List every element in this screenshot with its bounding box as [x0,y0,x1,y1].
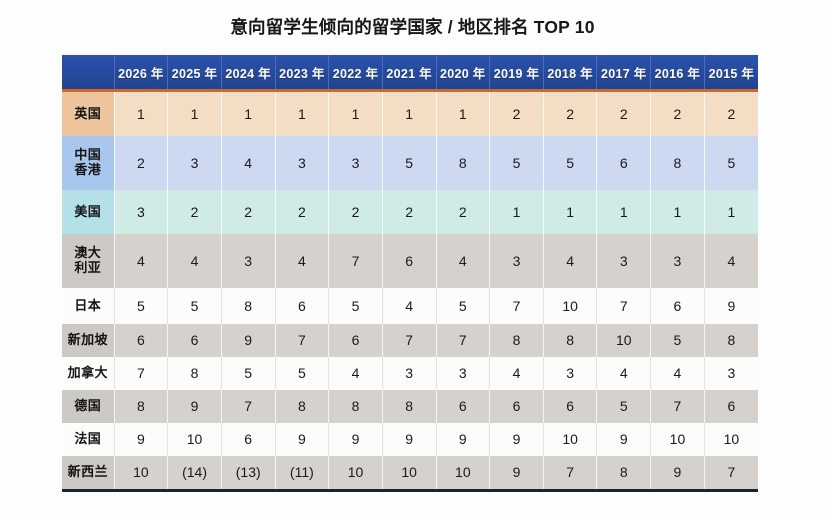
rank-cell: 6 [329,324,383,357]
rank-cell: 5 [490,136,544,190]
rank-cell: 4 [704,234,758,288]
rank-cell: (11) [275,456,329,491]
rank-cell: 9 [704,288,758,324]
rank-cell: 2 [651,91,705,137]
rank-cell: 9 [490,456,544,491]
rank-cell: 7 [597,288,651,324]
row-label-8: 德国 [62,390,114,423]
table-row: 新加坡6697677881058 [62,324,758,357]
rank-cell: 2 [543,91,597,137]
rank-cell: 4 [651,357,705,390]
rank-cell: 2 [168,190,222,234]
rank-cell: 9 [436,423,490,456]
rank-cell: 5 [221,357,275,390]
rank-cell: 8 [597,456,651,491]
table-row: 英国111111122222 [62,91,758,137]
row-label-line: 美国 [62,205,114,220]
rank-cell: 1 [329,91,383,137]
row-label-line: 香港 [62,163,114,178]
rank-cell: 5 [704,136,758,190]
rank-cell: 4 [597,357,651,390]
rank-cell: 3 [543,357,597,390]
rank-cell: 9 [651,456,705,491]
rank-cell: 1 [704,190,758,234]
rank-cell: 3 [275,136,329,190]
row-label-line: 日本 [62,299,114,314]
rank-cell: 6 [114,324,168,357]
row-label-7: 加拿大 [62,357,114,390]
rank-cell: 4 [168,234,222,288]
rank-cell: 1 [168,91,222,137]
rank-cell: 5 [651,324,705,357]
rank-cell: 4 [382,288,436,324]
rank-cell: 8 [114,390,168,423]
rank-cell: 8 [490,324,544,357]
table-row: 日本5586545710769 [62,288,758,324]
rank-cell: 10 [543,288,597,324]
rank-cell: 7 [490,288,544,324]
rank-cell: 4 [490,357,544,390]
rank-cell: 6 [651,288,705,324]
column-header-2024: 2024 年 [221,55,275,91]
rank-cell: 6 [543,390,597,423]
row-label-line: 澳大 [62,246,114,261]
rank-cell: 4 [114,234,168,288]
rank-cell: 10 [543,423,597,456]
header-row: 2026 年 2025 年 2024 年 2023 年 2022 年 2021 … [62,55,758,91]
rank-cell: 7 [436,324,490,357]
rank-cell: 5 [114,288,168,324]
rank-cell: 5 [382,136,436,190]
table-body: 英国111111122222中国香港234335855685美国32222221… [62,91,758,491]
column-header-2015: 2015 年 [704,55,758,91]
rank-cell: 1 [382,91,436,137]
rank-cell: 6 [168,324,222,357]
row-label-6: 新加坡 [62,324,114,357]
rank-cell: 2 [114,136,168,190]
rank-cell: 9 [114,423,168,456]
rank-cell: 2 [597,91,651,137]
rank-cell: 10 [704,423,758,456]
rank-cell: 3 [436,357,490,390]
rank-cell: 2 [275,190,329,234]
rank-cell: 9 [221,324,275,357]
rank-cell: 9 [597,423,651,456]
rank-cell: 5 [436,288,490,324]
row-label-line: 加拿大 [62,366,114,381]
rank-cell: 1 [543,190,597,234]
row-label-line: 中国 [62,148,114,163]
column-header-2023: 2023 年 [275,55,329,91]
rank-cell: 9 [168,390,222,423]
rank-cell: 8 [168,357,222,390]
rank-cell: 3 [597,234,651,288]
rank-cell: 5 [275,357,329,390]
rank-cell: 1 [436,91,490,137]
column-header-2020: 2020 年 [436,55,490,91]
rank-cell: 6 [221,423,275,456]
rank-cell: 4 [221,136,275,190]
rank-cell: 8 [436,136,490,190]
rank-cell: 8 [275,390,329,423]
rank-cell: 4 [275,234,329,288]
rank-cell: 1 [221,91,275,137]
rank-cell: 2 [436,190,490,234]
rank-cell: 10 [651,423,705,456]
row-label-2: 中国香港 [62,136,114,190]
rank-cell: 10 [114,456,168,491]
rank-cell: 1 [597,190,651,234]
rank-cell: 2 [382,190,436,234]
row-label-5: 日本 [62,288,114,324]
row-label-line: 英国 [62,107,114,122]
row-label-line: 新西兰 [62,465,114,480]
rank-cell: 6 [490,390,544,423]
row-label-line: 利亚 [62,261,114,276]
table-row: 德国897888666576 [62,390,758,423]
rank-cell: 1 [490,190,544,234]
rank-cell: 1 [114,91,168,137]
column-header-2019: 2019 年 [490,55,544,91]
row-label-1: 英国 [62,91,114,137]
rank-cell: 8 [221,288,275,324]
rank-cell: 10 [382,456,436,491]
rank-cell: 10 [597,324,651,357]
rank-cell: 10 [436,456,490,491]
rank-cell: 8 [704,324,758,357]
rank-cell: 8 [382,390,436,423]
rank-cell: 6 [597,136,651,190]
rank-cell: 3 [651,234,705,288]
row-label-10: 新西兰 [62,456,114,491]
rank-cell: 7 [651,390,705,423]
rank-cell: 5 [543,136,597,190]
header-corner-cell [62,55,114,91]
rank-cell: 9 [329,423,383,456]
rank-cell: 2 [329,190,383,234]
rank-cell: 8 [543,324,597,357]
table-row: 澳大利亚443476434334 [62,234,758,288]
rank-cell: 7 [382,324,436,357]
column-header-2022: 2022 年 [329,55,383,91]
rank-cell: 6 [436,390,490,423]
rank-cell: 3 [168,136,222,190]
rank-cell: 6 [275,288,329,324]
rank-cell: 6 [704,390,758,423]
rank-cell: 2 [704,91,758,137]
rank-cell: 2 [221,190,275,234]
rank-cell: 5 [168,288,222,324]
ranking-table: 2026 年 2025 年 2024 年 2023 年 2022 年 2021 … [62,55,758,492]
rank-cell: 3 [114,190,168,234]
rank-cell: 7 [114,357,168,390]
rank-cell: 4 [543,234,597,288]
rank-cell: 9 [382,423,436,456]
rank-cell: 3 [329,136,383,190]
page-title: 意向留学生倾向的留学国家 / 地区排名 TOP 10 [0,14,825,39]
rank-cell: 7 [543,456,597,491]
rank-cell: 4 [329,357,383,390]
rank-cell: 10 [168,423,222,456]
rank-cell: 1 [275,91,329,137]
table-row: 法国9106999991091010 [62,423,758,456]
rank-cell: (14) [168,456,222,491]
ranking-table-page: 意向留学生倾向的留学国家 / 地区排名 TOP 10 2026 年 2025 年… [0,0,825,519]
rank-cell: 9 [275,423,329,456]
rank-cell: 8 [651,136,705,190]
column-header-2018: 2018 年 [543,55,597,91]
row-label-line: 法国 [62,432,114,447]
column-header-2026: 2026 年 [114,55,168,91]
rank-cell: 7 [329,234,383,288]
rank-cell: 9 [490,423,544,456]
row-label-3: 美国 [62,190,114,234]
rank-cell: 3 [490,234,544,288]
table-row: 加拿大785543343443 [62,357,758,390]
rank-cell: 4 [436,234,490,288]
rank-cell: 3 [704,357,758,390]
rank-cell: (13) [221,456,275,491]
row-label-line: 德国 [62,399,114,414]
rank-cell: 6 [382,234,436,288]
rank-cell: 1 [651,190,705,234]
row-label-4: 澳大利亚 [62,234,114,288]
rank-cell: 5 [597,390,651,423]
column-header-2016: 2016 年 [651,55,705,91]
column-header-2017: 2017 年 [597,55,651,91]
rank-cell: 7 [275,324,329,357]
table-row: 新西兰10(14)(13)(11)10101097897 [62,456,758,491]
rank-cell: 3 [221,234,275,288]
rank-cell: 2 [490,91,544,137]
rank-cell: 3 [382,357,436,390]
rank-cell: 8 [329,390,383,423]
rank-cell: 5 [329,288,383,324]
rank-cell: 7 [704,456,758,491]
rank-cell: 7 [221,390,275,423]
rank-cell: 10 [329,456,383,491]
ranking-table-container: 2026 年 2025 年 2024 年 2023 年 2022 年 2021 … [62,55,758,492]
row-label-9: 法国 [62,423,114,456]
table-row: 美国322222211111 [62,190,758,234]
column-header-2025: 2025 年 [168,55,222,91]
table-header: 2026 年 2025 年 2024 年 2023 年 2022 年 2021 … [62,55,758,91]
column-header-2021: 2021 年 [382,55,436,91]
table-row: 中国香港234335855685 [62,136,758,190]
row-label-line: 新加坡 [62,333,114,348]
